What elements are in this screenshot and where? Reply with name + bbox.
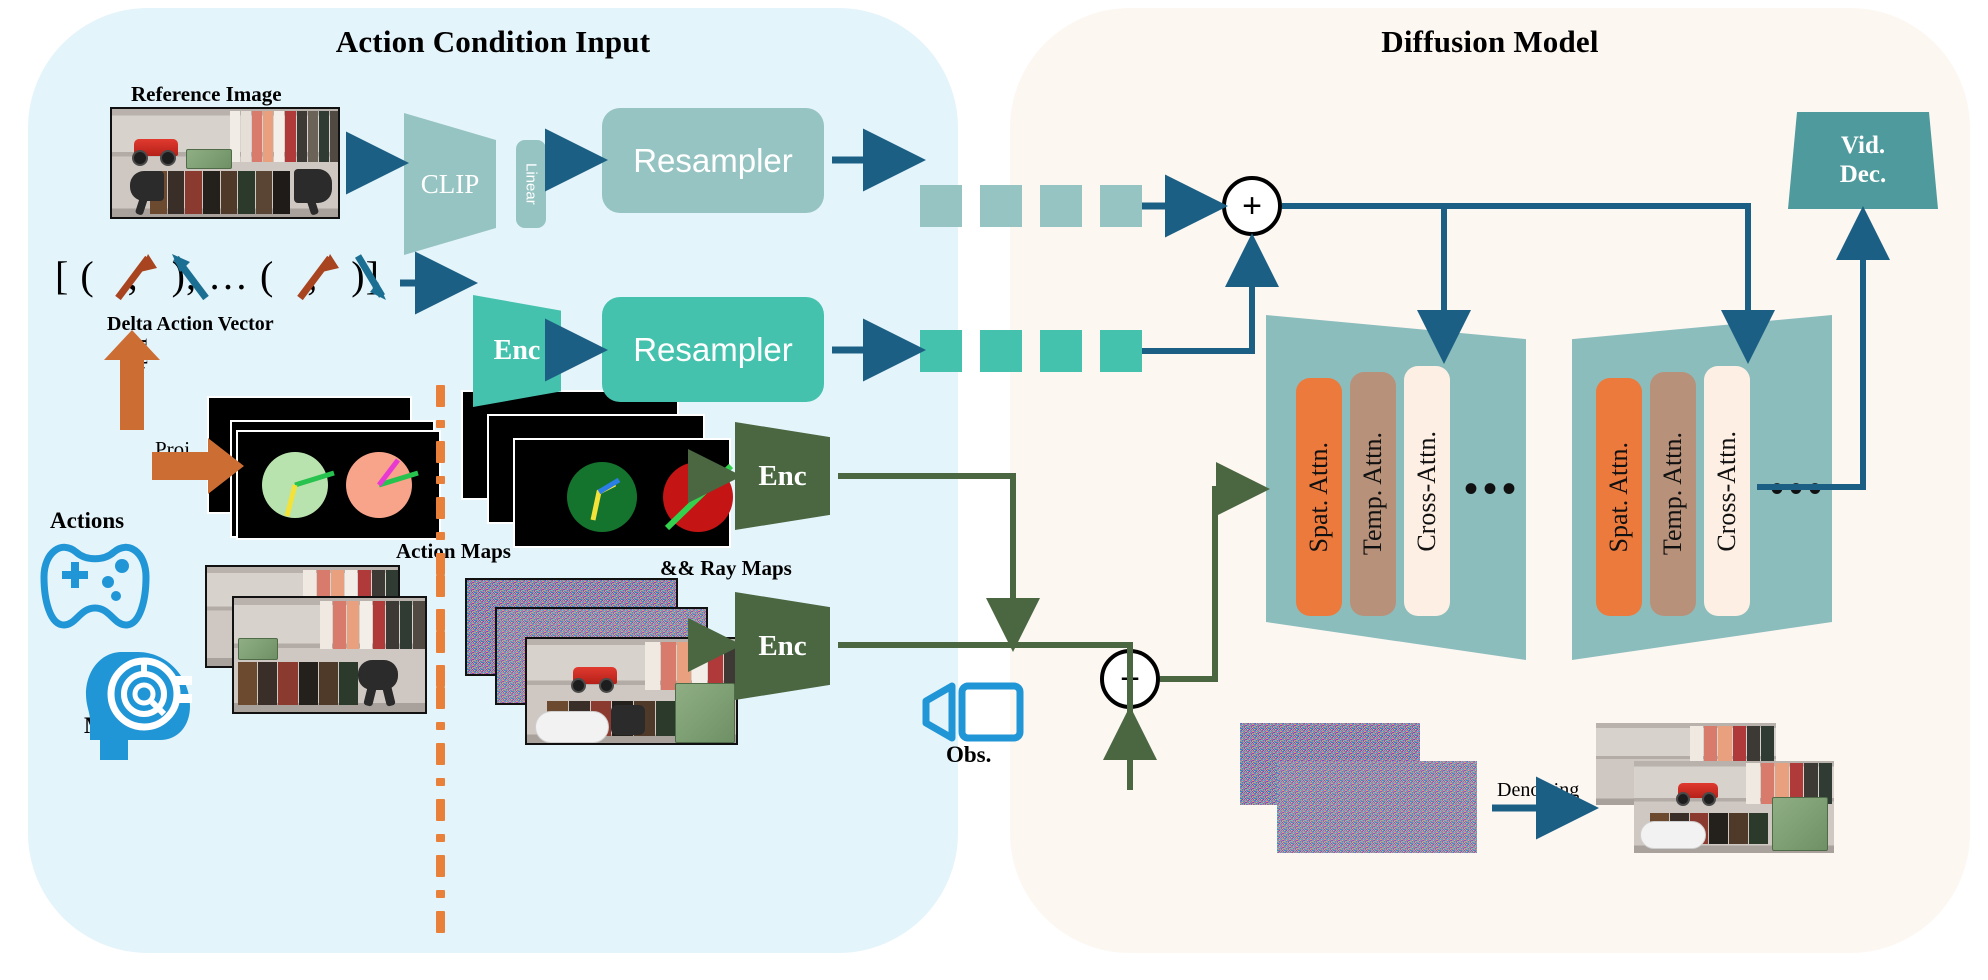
delta-action-vector-label: Delta Action Vector <box>107 313 274 336</box>
memory-label: Memory <box>84 713 168 739</box>
resampler-action-label: Resampler <box>633 331 793 369</box>
unet-up-ellipsis: ••• <box>1770 465 1827 512</box>
unet-down-spat-attn[interactable]: Spat. Attn. <box>1296 378 1342 616</box>
action-maps-label: Action Maps <box>396 539 511 564</box>
diagram-canvas: Action Condition Input Diffusion Model R… <box>0 0 1988 980</box>
proj-label: Proj. <box>155 437 195 462</box>
panel-title-diffusion: Diffusion Model <box>1010 24 1970 60</box>
reference-image-thumb <box>110 107 340 219</box>
unet-up-cross-attn[interactable]: Cross-Attn. <box>1704 366 1750 616</box>
ray-map-frame-front <box>513 438 731 548</box>
action-map-frame-front <box>236 430 441 540</box>
unet-down-temp-attn[interactable]: Temp. Attn. <box>1350 372 1396 616</box>
action-token-4 <box>1100 330 1142 372</box>
ray-maps-label: && Ray Maps <box>660 556 792 581</box>
divider-dashes-lower <box>436 575 445 946</box>
memory-photo-front <box>232 596 427 714</box>
sum-node-latent: + <box>1100 649 1160 709</box>
image-token-1 <box>920 185 962 227</box>
unet-up-temp-attn[interactable]: Temp. Attn. <box>1650 372 1696 616</box>
linear-label: Linear <box>523 163 540 205</box>
plus-sign-condition: + <box>1242 187 1262 226</box>
action-token-2 <box>980 330 1022 372</box>
image-token-2 <box>980 185 1022 227</box>
unet-up-spat-attn-label: Spat. Attn. <box>1604 442 1634 553</box>
image-token-4 <box>1100 185 1142 227</box>
unet-down-ellipsis: ••• <box>1464 465 1521 512</box>
video-decoder-label-line1: Vid. <box>1841 132 1885 161</box>
unet-up-spat-attn[interactable]: Spat. Attn. <box>1596 378 1642 616</box>
obs-label: Obs. <box>946 742 991 768</box>
unet-down-cross-attn[interactable]: Cross-Attn. <box>1404 366 1450 616</box>
image-token-3 <box>1040 185 1082 227</box>
enc-obs-label: Enc <box>735 592 830 700</box>
obs-clean-photo-front <box>525 637 738 745</box>
action-token-3 <box>1040 330 1082 372</box>
resampler-action-block[interactable]: Resampler <box>602 297 824 402</box>
unet-down-temp-attn-label: Temp. Attn. <box>1358 432 1388 555</box>
unet-up-cross-attn-label: Cross-Attn. <box>1712 431 1742 552</box>
video-decoder-label-line2: Dec. <box>1840 161 1887 190</box>
delta-label: Delta <box>128 338 150 379</box>
actions-label: Actions <box>50 508 124 534</box>
plus-sign-latent: + <box>1120 660 1140 699</box>
action-token-1 <box>920 330 962 372</box>
denoising-label: Denoising <box>1497 779 1579 802</box>
enc-action-label: Enc <box>473 295 561 407</box>
delta-action-vector-notation: [ ( , ), … ( , )] <box>55 252 380 299</box>
linear-block[interactable]: Linear <box>516 140 546 228</box>
sum-node-condition: + <box>1222 176 1282 236</box>
reference-image-label: Reference Image <box>131 82 282 107</box>
unet-down-spat-attn-label: Spat. Attn. <box>1304 442 1334 553</box>
denoise-output-front <box>1634 761 1834 853</box>
enc-actionmap-label: Enc <box>735 422 830 530</box>
unet-up-temp-attn-label: Temp. Attn. <box>1658 432 1688 555</box>
panel-title-action: Action Condition Input <box>28 24 958 60</box>
resampler-image-block[interactable]: Resampler <box>602 108 824 213</box>
unet-down-cross-attn-label: Cross-Attn. <box>1412 431 1442 552</box>
resampler-image-label: Resampler <box>633 142 793 180</box>
denoise-input-noise-front <box>1277 761 1477 853</box>
clip-label: CLIP <box>404 113 496 255</box>
